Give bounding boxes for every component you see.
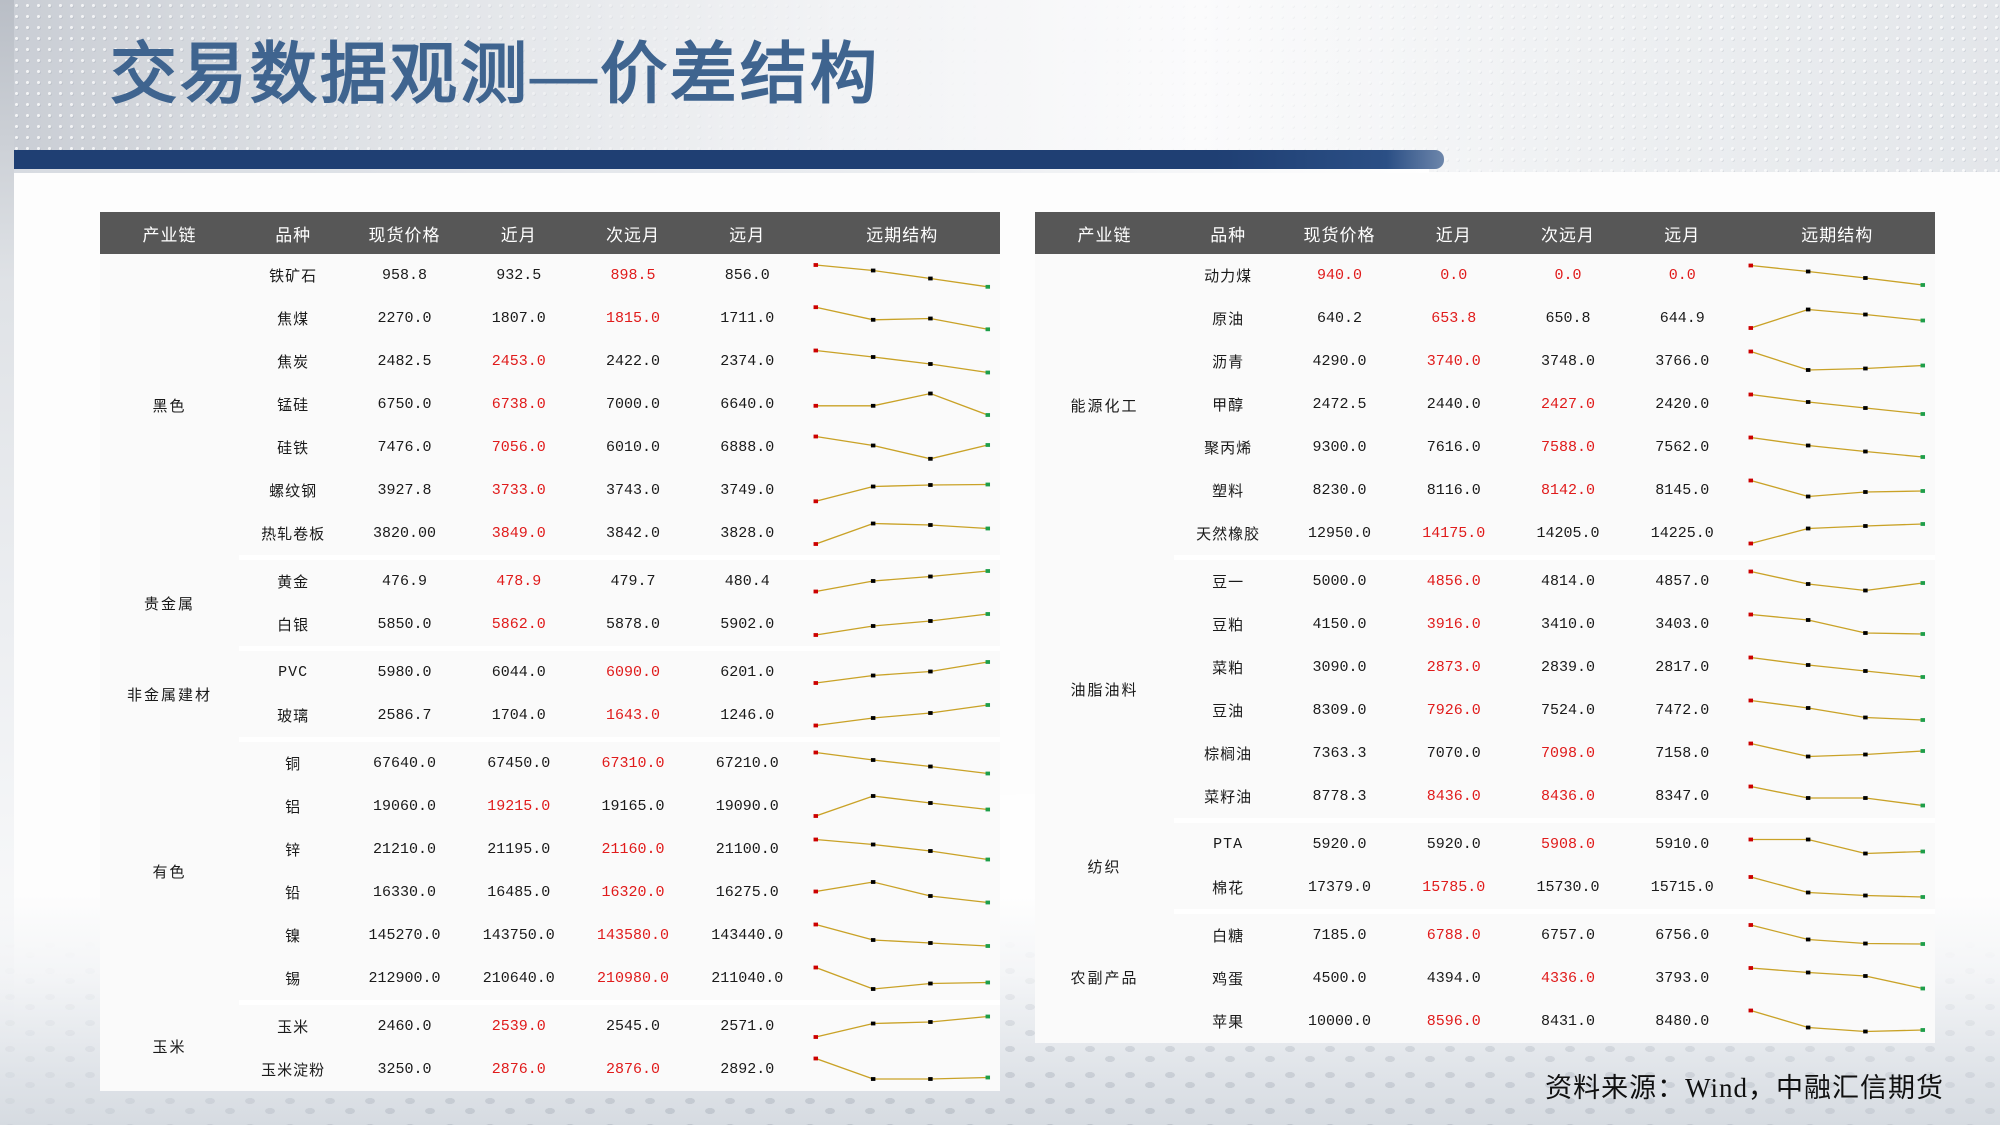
far-month-cell: 16275.0	[690, 871, 804, 914]
near-month-cell: 67450.0	[462, 740, 576, 786]
col-header-near: 近月	[462, 212, 576, 254]
right-table-head: 产业链 品种 现货价格 近月 次远月 远月 远期结构	[1035, 212, 1935, 254]
col-header-variety: 品种	[1174, 212, 1282, 254]
left-table-body: 黑色铁矿石958.8932.5898.5856.0焦煤2270.01807.01…	[100, 254, 1000, 1091]
table-row: 能源化工动力煤940.00.00.00.0	[1035, 254, 1935, 297]
col-header-chain: 产业链	[100, 212, 239, 254]
next-far-month-cell: 7000.0	[576, 383, 690, 426]
near-month-cell: 19215.0	[462, 785, 576, 828]
forward-curve-sparkline	[1739, 340, 1935, 383]
chain-cell: 非金属建材	[100, 649, 239, 740]
next-far-month-cell: 6090.0	[576, 649, 690, 695]
table-row: 油脂油料豆一5000.04856.04814.04857.0	[1035, 558, 1935, 604]
far-month-cell: 143440.0	[690, 914, 804, 957]
far-month-cell: 0.0	[1625, 254, 1739, 297]
forward-curve-sparkline	[804, 297, 1000, 340]
far-month-cell: 19090.0	[690, 785, 804, 828]
table-row: 黑色铁矿石958.8932.5898.5856.0	[100, 254, 1000, 297]
variety-cell: 豆一	[1174, 558, 1282, 604]
next-far-month-cell: 3748.0	[1511, 340, 1625, 383]
left-table-head: 产业链 品种 现货价格 近月 次远月 远月 远期结构	[100, 212, 1000, 254]
chain-cell: 农副产品	[1035, 912, 1174, 1044]
far-month-cell: 856.0	[690, 254, 804, 297]
spot-cell: 9300.0	[1282, 426, 1396, 469]
next-far-month-cell: 67310.0	[576, 740, 690, 786]
variety-cell: 菜粕	[1174, 646, 1282, 689]
variety-cell: 豆油	[1174, 689, 1282, 732]
far-month-cell: 7472.0	[1625, 689, 1739, 732]
forward-curve-sparkline	[1739, 469, 1935, 512]
right-price-table-panel: 产业链 品种 现货价格 近月 次远月 远月 远期结构 能源化工动力煤940.00…	[1035, 212, 1935, 1043]
far-month-cell: 8347.0	[1625, 775, 1739, 821]
right-price-table: 产业链 品种 现货价格 近月 次远月 远月 远期结构 能源化工动力煤940.00…	[1035, 212, 1935, 1043]
next-far-month-cell: 479.7	[576, 558, 690, 604]
near-month-cell: 6738.0	[462, 383, 576, 426]
next-far-month-cell: 1643.0	[576, 694, 690, 740]
forward-curve-sparkline	[804, 1048, 1000, 1091]
spot-cell: 3090.0	[1282, 646, 1396, 689]
variety-cell: 焦煤	[239, 297, 347, 340]
near-month-cell: 8116.0	[1397, 469, 1511, 512]
far-month-cell: 3766.0	[1625, 340, 1739, 383]
next-far-month-cell: 16320.0	[576, 871, 690, 914]
near-month-cell: 478.9	[462, 558, 576, 604]
spot-cell: 145270.0	[347, 914, 461, 957]
forward-curve-sparkline	[804, 558, 1000, 604]
variety-cell: 棕榈油	[1174, 732, 1282, 775]
forward-curve-sparkline	[1739, 646, 1935, 689]
table-row: 有色铜67640.067450.067310.067210.0	[100, 740, 1000, 786]
near-month-cell: 1807.0	[462, 297, 576, 340]
table-row: 纺织PTA5920.05920.05908.05910.0	[1035, 821, 1935, 867]
forward-curve-sparkline	[804, 469, 1000, 512]
far-month-cell: 3828.0	[690, 512, 804, 558]
spot-cell: 6750.0	[347, 383, 461, 426]
spot-cell: 21210.0	[347, 828, 461, 871]
near-month-cell: 1704.0	[462, 694, 576, 740]
near-month-cell: 932.5	[462, 254, 576, 297]
spot-cell: 5920.0	[1282, 821, 1396, 867]
near-month-cell: 6788.0	[1397, 912, 1511, 958]
forward-curve-sparkline	[1739, 512, 1935, 558]
next-far-month-cell: 7098.0	[1511, 732, 1625, 775]
variety-cell: 白银	[239, 603, 347, 649]
near-month-cell: 2539.0	[462, 1003, 576, 1049]
variety-cell: 豆粕	[1174, 603, 1282, 646]
variety-cell: 铝	[239, 785, 347, 828]
far-month-cell: 21100.0	[690, 828, 804, 871]
far-month-cell: 2892.0	[690, 1048, 804, 1091]
far-month-cell: 2571.0	[690, 1003, 804, 1049]
col-header-spot: 现货价格	[347, 212, 461, 254]
next-far-month-cell: 2876.0	[576, 1048, 690, 1091]
forward-curve-sparkline	[804, 340, 1000, 383]
forward-curve-sparkline	[804, 512, 1000, 558]
col-header-curve: 远期结构	[1739, 212, 1935, 254]
forward-curve-sparkline	[1739, 558, 1935, 604]
forward-curve-sparkline	[1739, 603, 1935, 646]
near-month-cell: 7056.0	[462, 426, 576, 469]
near-month-cell: 143750.0	[462, 914, 576, 957]
spot-cell: 8309.0	[1282, 689, 1396, 732]
spot-cell: 5980.0	[347, 649, 461, 695]
far-month-cell: 7158.0	[1625, 732, 1739, 775]
spot-cell: 7363.3	[1282, 732, 1396, 775]
forward-curve-sparkline	[804, 828, 1000, 871]
next-far-month-cell: 143580.0	[576, 914, 690, 957]
forward-curve-sparkline	[1739, 821, 1935, 867]
col-header-chain: 产业链	[1035, 212, 1174, 254]
spot-cell: 2460.0	[347, 1003, 461, 1049]
next-far-month-cell: 4336.0	[1511, 957, 1625, 1000]
spot-cell: 212900.0	[347, 957, 461, 1003]
near-month-cell: 4856.0	[1397, 558, 1511, 604]
next-far-month-cell: 4814.0	[1511, 558, 1625, 604]
forward-curve-sparkline	[804, 383, 1000, 426]
col-header-far: 远月	[690, 212, 804, 254]
left-header-row: 产业链 品种 现货价格 近月 次远月 远月 远期结构	[100, 212, 1000, 254]
near-month-cell: 15785.0	[1397, 866, 1511, 912]
chain-cell: 能源化工	[1035, 254, 1174, 558]
next-far-month-cell: 8436.0	[1511, 775, 1625, 821]
next-far-month-cell: 210980.0	[576, 957, 690, 1003]
variety-cell: PTA	[1174, 821, 1282, 867]
variety-cell: 焦炭	[239, 340, 347, 383]
spot-cell: 5850.0	[347, 603, 461, 649]
next-far-month-cell: 6757.0	[1511, 912, 1625, 958]
next-far-month-cell: 2422.0	[576, 340, 690, 383]
variety-cell: 镍	[239, 914, 347, 957]
spot-cell: 67640.0	[347, 740, 461, 786]
forward-curve-sparkline	[1739, 775, 1935, 821]
chain-cell: 贵金属	[100, 558, 239, 649]
forward-curve-sparkline	[804, 694, 1000, 740]
next-far-month-cell: 7524.0	[1511, 689, 1625, 732]
near-month-cell: 7616.0	[1397, 426, 1511, 469]
variety-cell: 聚丙烯	[1174, 426, 1282, 469]
near-month-cell: 5920.0	[1397, 821, 1511, 867]
near-month-cell: 8596.0	[1397, 1000, 1511, 1043]
near-month-cell: 2453.0	[462, 340, 576, 383]
right-header-row: 产业链 品种 现货价格 近月 次远月 远月 远期结构	[1035, 212, 1935, 254]
forward-curve-sparkline	[1739, 1000, 1935, 1043]
near-month-cell: 2873.0	[1397, 646, 1511, 689]
next-far-month-cell: 3743.0	[576, 469, 690, 512]
next-far-month-cell: 2839.0	[1511, 646, 1625, 689]
spot-cell: 2482.5	[347, 340, 461, 383]
far-month-cell: 644.9	[1625, 297, 1739, 340]
forward-curve-sparkline	[1739, 912, 1935, 958]
spot-cell: 4150.0	[1282, 603, 1396, 646]
near-month-cell: 0.0	[1397, 254, 1511, 297]
forward-curve-sparkline	[1739, 689, 1935, 732]
chain-cell: 油脂油料	[1035, 558, 1174, 821]
near-month-cell: 7070.0	[1397, 732, 1511, 775]
next-far-month-cell: 8142.0	[1511, 469, 1625, 512]
spot-cell: 4500.0	[1282, 957, 1396, 1000]
next-far-month-cell: 898.5	[576, 254, 690, 297]
variety-cell: 黄金	[239, 558, 347, 604]
variety-cell: 铅	[239, 871, 347, 914]
far-month-cell: 5902.0	[690, 603, 804, 649]
spot-cell: 17379.0	[1282, 866, 1396, 912]
far-month-cell: 6756.0	[1625, 912, 1739, 958]
forward-curve-sparkline	[1739, 297, 1935, 340]
near-month-cell: 8436.0	[1397, 775, 1511, 821]
far-month-cell: 15715.0	[1625, 866, 1739, 912]
col-header-variety: 品种	[239, 212, 347, 254]
spot-cell: 5000.0	[1282, 558, 1396, 604]
chain-cell: 玉米	[100, 1003, 239, 1092]
near-month-cell: 5862.0	[462, 603, 576, 649]
spot-cell: 940.0	[1282, 254, 1396, 297]
forward-curve-sparkline	[804, 785, 1000, 828]
variety-cell: 动力煤	[1174, 254, 1282, 297]
far-month-cell: 2420.0	[1625, 383, 1739, 426]
spot-cell: 12950.0	[1282, 512, 1396, 558]
forward-curve-sparkline	[804, 957, 1000, 1003]
page-title-container: 交易数据观测—价差结构	[110, 42, 880, 109]
far-month-cell: 2817.0	[1625, 646, 1739, 689]
variety-cell: 菜籽油	[1174, 775, 1282, 821]
forward-curve-sparkline	[1739, 732, 1935, 775]
spot-cell: 7476.0	[347, 426, 461, 469]
far-month-cell: 3749.0	[690, 469, 804, 512]
variety-cell: 鸡蛋	[1174, 957, 1282, 1000]
table-row: 农副产品白糖7185.06788.06757.06756.0	[1035, 912, 1935, 958]
next-far-month-cell: 3842.0	[576, 512, 690, 558]
variety-cell: 塑料	[1174, 469, 1282, 512]
next-far-month-cell: 15730.0	[1511, 866, 1625, 912]
far-month-cell: 2374.0	[690, 340, 804, 383]
variety-cell: 玉米	[239, 1003, 347, 1049]
far-month-cell: 7562.0	[1625, 426, 1739, 469]
next-far-month-cell: 1815.0	[576, 297, 690, 340]
col-header-curve: 远期结构	[804, 212, 1000, 254]
spot-cell: 3250.0	[347, 1048, 461, 1091]
spot-cell: 3820.00	[347, 512, 461, 558]
forward-curve-sparkline	[804, 914, 1000, 957]
spot-cell: 2586.7	[347, 694, 461, 740]
title-underline-bar	[14, 150, 1444, 169]
forward-curve-sparkline	[804, 426, 1000, 469]
near-month-cell: 3916.0	[1397, 603, 1511, 646]
forward-curve-sparkline	[804, 254, 1000, 297]
left-price-table-panel: 产业链 品种 现货价格 近月 次远月 远月 远期结构 黑色铁矿石958.8932…	[100, 212, 1000, 1091]
variety-cell: 铜	[239, 740, 347, 786]
forward-curve-sparkline	[804, 871, 1000, 914]
spot-cell: 10000.0	[1282, 1000, 1396, 1043]
spot-cell: 7185.0	[1282, 912, 1396, 958]
col-header-mid: 次远月	[1511, 212, 1625, 254]
far-month-cell: 480.4	[690, 558, 804, 604]
next-far-month-cell: 19165.0	[576, 785, 690, 828]
chain-cell: 纺织	[1035, 821, 1174, 912]
variety-cell: 沥青	[1174, 340, 1282, 383]
far-month-cell: 211040.0	[690, 957, 804, 1003]
near-month-cell: 3849.0	[462, 512, 576, 558]
table-row: 贵金属黄金476.9478.9479.7480.4	[100, 558, 1000, 604]
near-month-cell: 653.8	[1397, 297, 1511, 340]
spot-cell: 8230.0	[1282, 469, 1396, 512]
spot-cell: 2270.0	[347, 297, 461, 340]
variety-cell: 玻璃	[239, 694, 347, 740]
next-far-month-cell: 6010.0	[576, 426, 690, 469]
spot-cell: 19060.0	[347, 785, 461, 828]
near-month-cell: 14175.0	[1397, 512, 1511, 558]
far-month-cell: 6640.0	[690, 383, 804, 426]
spot-cell: 476.9	[347, 558, 461, 604]
col-header-near: 近月	[1397, 212, 1511, 254]
source-note: 资料来源：Wind，中融汇信期货	[1545, 1066, 1944, 1105]
far-month-cell: 5910.0	[1625, 821, 1739, 867]
title-underline-shadow	[14, 169, 1429, 173]
next-far-month-cell: 7588.0	[1511, 426, 1625, 469]
left-price-table: 产业链 品种 现货价格 近月 次远月 远月 远期结构 黑色铁矿石958.8932…	[100, 212, 1000, 1091]
far-month-cell: 3403.0	[1625, 603, 1739, 646]
forward-curve-sparkline	[1739, 957, 1935, 1000]
next-far-month-cell: 5878.0	[576, 603, 690, 649]
table-row: 玉米玉米2460.02539.02545.02571.0	[100, 1003, 1000, 1049]
variety-cell: 热轧卷板	[239, 512, 347, 558]
table-row: 非金属建材PVC5980.06044.06090.06201.0	[100, 649, 1000, 695]
spot-cell: 958.8	[347, 254, 461, 297]
near-month-cell: 210640.0	[462, 957, 576, 1003]
variety-cell: 锰硅	[239, 383, 347, 426]
variety-cell: 锡	[239, 957, 347, 1003]
near-month-cell: 3733.0	[462, 469, 576, 512]
forward-curve-sparkline	[1739, 866, 1935, 912]
next-far-month-cell: 650.8	[1511, 297, 1625, 340]
far-month-cell: 1246.0	[690, 694, 804, 740]
spot-cell: 640.2	[1282, 297, 1396, 340]
next-far-month-cell: 3410.0	[1511, 603, 1625, 646]
variety-cell: 原油	[1174, 297, 1282, 340]
col-header-spot: 现货价格	[1282, 212, 1396, 254]
next-far-month-cell: 0.0	[1511, 254, 1625, 297]
near-month-cell: 2876.0	[462, 1048, 576, 1091]
variety-cell: 玉米淀粉	[239, 1048, 347, 1091]
spot-cell: 3927.8	[347, 469, 461, 512]
far-month-cell: 6201.0	[690, 649, 804, 695]
chain-cell: 有色	[100, 740, 239, 1003]
next-far-month-cell: 2545.0	[576, 1003, 690, 1049]
next-far-month-cell: 14205.0	[1511, 512, 1625, 558]
far-month-cell: 14225.0	[1625, 512, 1739, 558]
variety-cell: 甲醇	[1174, 383, 1282, 426]
far-month-cell: 4857.0	[1625, 558, 1739, 604]
forward-curve-sparkline	[804, 603, 1000, 649]
forward-curve-sparkline	[1739, 254, 1935, 297]
col-header-mid: 次远月	[576, 212, 690, 254]
spot-cell: 16330.0	[347, 871, 461, 914]
far-month-cell: 67210.0	[690, 740, 804, 786]
variety-cell: 铁矿石	[239, 254, 347, 297]
near-month-cell: 4394.0	[1397, 957, 1511, 1000]
near-month-cell: 7926.0	[1397, 689, 1511, 732]
far-month-cell: 8145.0	[1625, 469, 1739, 512]
forward-curve-sparkline	[804, 1003, 1000, 1049]
variety-cell: 棉花	[1174, 866, 1282, 912]
next-far-month-cell: 2427.0	[1511, 383, 1625, 426]
near-month-cell: 16485.0	[462, 871, 576, 914]
next-far-month-cell: 8431.0	[1511, 1000, 1625, 1043]
near-month-cell: 3740.0	[1397, 340, 1511, 383]
variety-cell: 螺纹钢	[239, 469, 347, 512]
page-title: 交易数据观测—价差结构	[110, 42, 880, 109]
variety-cell: 苹果	[1174, 1000, 1282, 1043]
forward-curve-sparkline	[804, 740, 1000, 786]
variety-cell: 天然橡胶	[1174, 512, 1282, 558]
variety-cell: 白糖	[1174, 912, 1282, 958]
next-far-month-cell: 21160.0	[576, 828, 690, 871]
col-header-far: 远月	[1625, 212, 1739, 254]
near-month-cell: 2440.0	[1397, 383, 1511, 426]
right-table-body: 能源化工动力煤940.00.00.00.0原油640.2653.8650.864…	[1035, 254, 1935, 1043]
far-month-cell: 1711.0	[690, 297, 804, 340]
variety-cell: PVC	[239, 649, 347, 695]
variety-cell: 锌	[239, 828, 347, 871]
forward-curve-sparkline	[1739, 426, 1935, 469]
spot-cell: 2472.5	[1282, 383, 1396, 426]
spot-cell: 4290.0	[1282, 340, 1396, 383]
next-far-month-cell: 5908.0	[1511, 821, 1625, 867]
far-month-cell: 3793.0	[1625, 957, 1739, 1000]
far-month-cell: 6888.0	[690, 426, 804, 469]
far-month-cell: 8480.0	[1625, 1000, 1739, 1043]
spot-cell: 8778.3	[1282, 775, 1396, 821]
chain-cell: 黑色	[100, 254, 239, 558]
forward-curve-sparkline	[1739, 383, 1935, 426]
near-month-cell: 6044.0	[462, 649, 576, 695]
near-month-cell: 21195.0	[462, 828, 576, 871]
variety-cell: 硅铁	[239, 426, 347, 469]
forward-curve-sparkline	[804, 649, 1000, 695]
